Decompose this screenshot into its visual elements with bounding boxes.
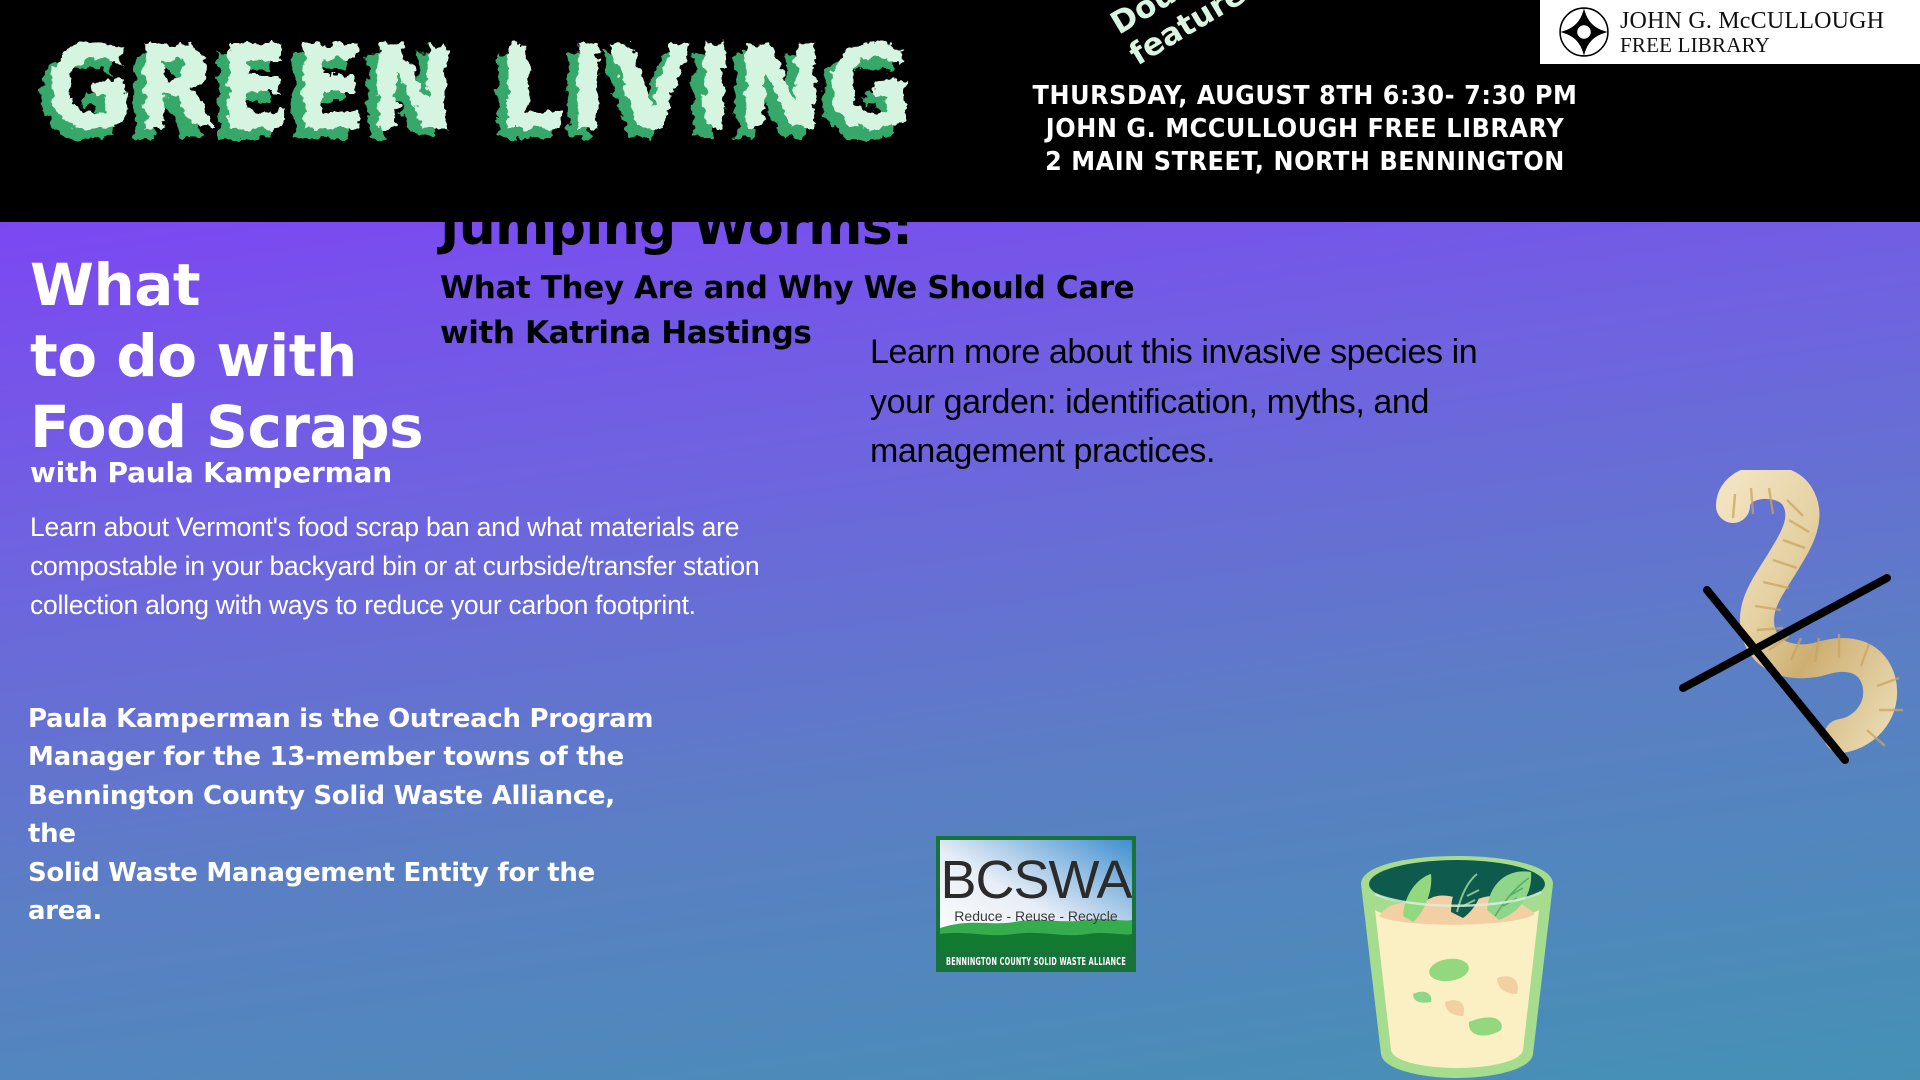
event-address: 2 MAIN STREET, NORTH BENNINGTON xyxy=(1028,146,1583,179)
green-living-title-svg: GREEN LIVING GREEN LIVING xyxy=(10,10,930,185)
event-details: THURSDAY, AUGUST 8TH 6:30- 7:30 PM JOHN … xyxy=(1028,80,1583,179)
library-name-line2: FREE LIBRARY xyxy=(1620,35,1884,56)
jumping-worm-icon xyxy=(1655,470,1920,770)
bcswa-logo: BCSWA Reduce - Reuse - Recycle BENNINGTO… xyxy=(936,836,1136,972)
green-living-title: GREEN LIVING GREEN LIVING xyxy=(10,10,930,170)
green-living-main-text: GREEN LIVING xyxy=(46,21,916,156)
left-talk-title: What to do with Food Scraps xyxy=(30,250,450,462)
bcswa-acronym: BCSWA xyxy=(940,850,1132,910)
library-logo-text: JOHN G. McCULLOUGH FREE LIBRARY xyxy=(1620,9,1884,56)
compost-bucket-icon xyxy=(1345,854,1569,1080)
poster-canvas: GREEN LIVING GREEN LIVING Double feature… xyxy=(0,0,1920,1080)
compass-star-icon xyxy=(1558,6,1610,58)
event-venue: JOHN G. MCCULLOUGH FREE LIBRARY xyxy=(1028,113,1583,146)
event-date-time: THURSDAY, AUGUST 8TH 6:30- 7:30 PM xyxy=(1028,80,1583,113)
library-name-line1: JOHN G. McCULLOUGH xyxy=(1620,9,1884,33)
library-logo: JOHN G. McCULLOUGH FREE LIBRARY xyxy=(1540,0,1920,64)
right-talk-title: Jumping Worms: xyxy=(440,196,1080,258)
left-talk-presenter: with Paula Kamperman xyxy=(30,456,510,490)
right-talk-description: Learn more about this invasive species i… xyxy=(870,328,1550,477)
left-talk-bio: Paula Kamperman is the Outreach Program … xyxy=(28,700,668,931)
bcswa-full-name: BENNINGTON COUNTY SOLID WASTE ALLIANCE xyxy=(946,955,1126,968)
bcswa-tagline: Reduce - Reuse - Recycle xyxy=(954,908,1118,924)
left-talk-description: Learn about Vermont's food scrap ban and… xyxy=(30,508,810,626)
